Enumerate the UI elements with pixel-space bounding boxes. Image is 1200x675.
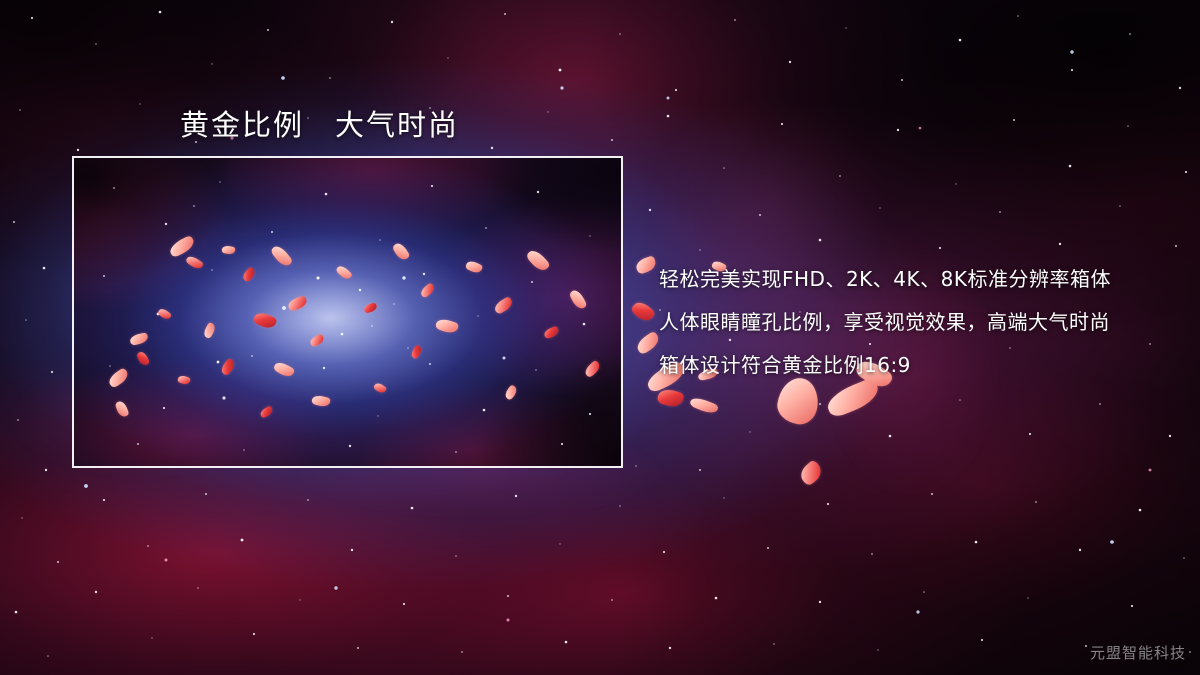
presentation-slide: 黄金比例 大气时尚 — [0, 0, 1200, 675]
body-text-block: 轻松完美实现FHD、2K、4K、8K标准分辨率箱体 人体眼睛瞳孔比例，享受视觉效… — [659, 258, 1179, 387]
body-line-2: 人体眼睛瞳孔比例，享受视觉效果，高端大气时尚 — [659, 301, 1179, 344]
body-line-1: 轻松完美实现FHD、2K、4K、8K标准分辨率箱体 — [659, 258, 1179, 301]
framed-galaxy-image — [72, 156, 623, 468]
body-line-3: 箱体设计符合黄金比例16:9 — [659, 344, 1179, 387]
framed-image-stars — [74, 158, 623, 468]
watermark: 元盟智能科技 — [1090, 642, 1186, 663]
page-title: 黄金比例 大气时尚 — [180, 102, 459, 144]
